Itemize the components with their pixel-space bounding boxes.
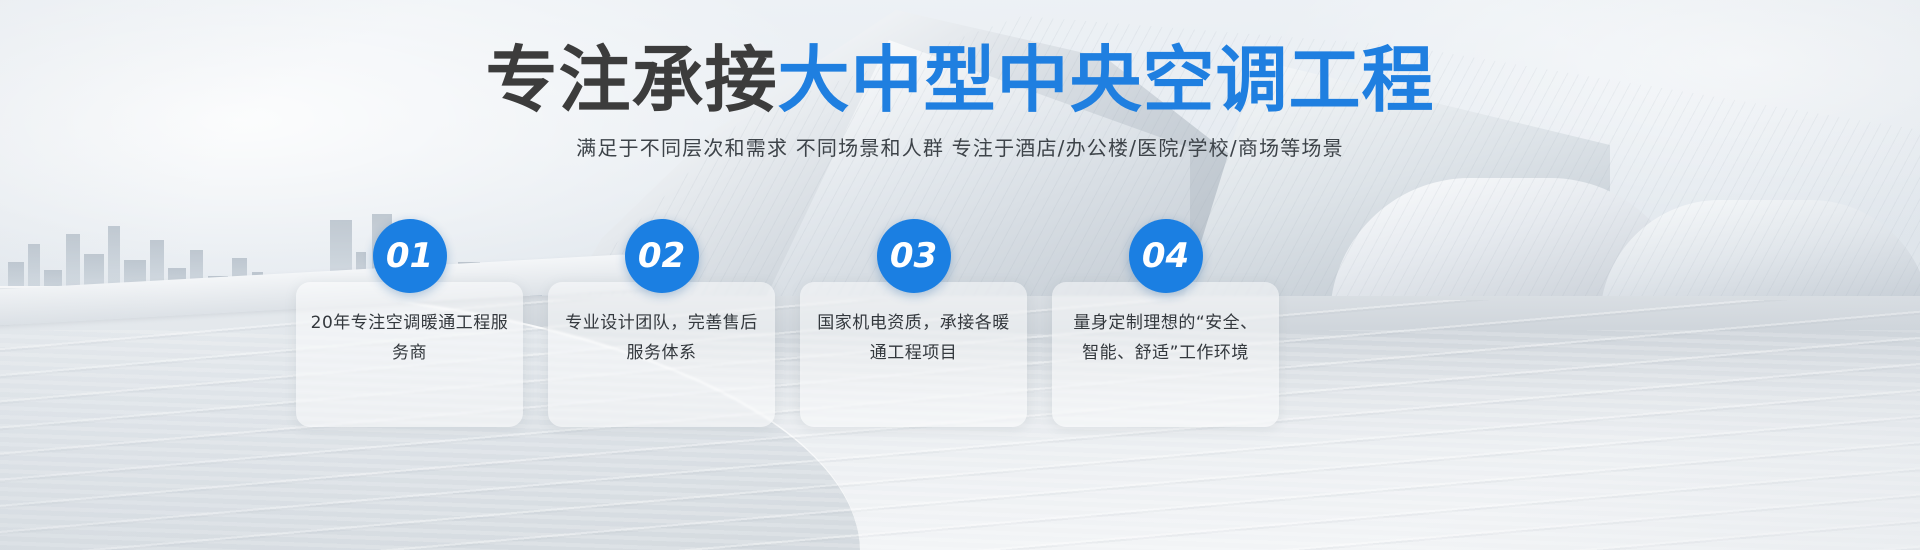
card-number-badge-03: 03 <box>877 219 951 293</box>
feature-card-02[interactable]: 02 专业设计团队，完善售后服务体系 <box>548 282 775 427</box>
headline-dark-text: 专注承接 <box>485 38 777 122</box>
feature-card-04[interactable]: 04 量身定制理想的“安全、智能、舒适”工作环境 <box>1052 282 1279 427</box>
card-text-03: 国家机电资质，承接各暖通工程项目 <box>814 308 1013 368</box>
headline-blue-text: 大中型中央空调工程 <box>778 38 1435 122</box>
card-number-badge-01: 01 <box>373 219 447 293</box>
card-text-01: 20年专注空调暖通工程服务商 <box>310 308 509 368</box>
card-text-02: 专业设计团队，完善售后服务体系 <box>562 308 761 368</box>
card-text-04: 量身定制理想的“安全、智能、舒适”工作环境 <box>1066 308 1265 368</box>
feature-card-03[interactable]: 03 国家机电资质，承接各暖通工程项目 <box>800 282 1027 427</box>
banner-headline: 专注承接大中型中央空调工程 <box>0 44 1920 116</box>
feature-card-list: 01 20年专注空调暖通工程服务商 02 专业设计团队，完善售后服务体系 03 … <box>296 282 1528 432</box>
feature-card-01[interactable]: 01 20年专注空调暖通工程服务商 <box>296 282 523 427</box>
banner-subtitle: 满足于不同层次和需求 不同场景和人群 专注于酒店/办公楼/医院/学校/商场等场景 <box>0 132 1920 161</box>
hero-banner: 专注承接大中型中央空调工程 满足于不同层次和需求 不同场景和人群 专注于酒店/办… <box>0 0 1920 550</box>
card-number-badge-02: 02 <box>625 219 699 293</box>
card-number-badge-04: 04 <box>1129 219 1203 293</box>
